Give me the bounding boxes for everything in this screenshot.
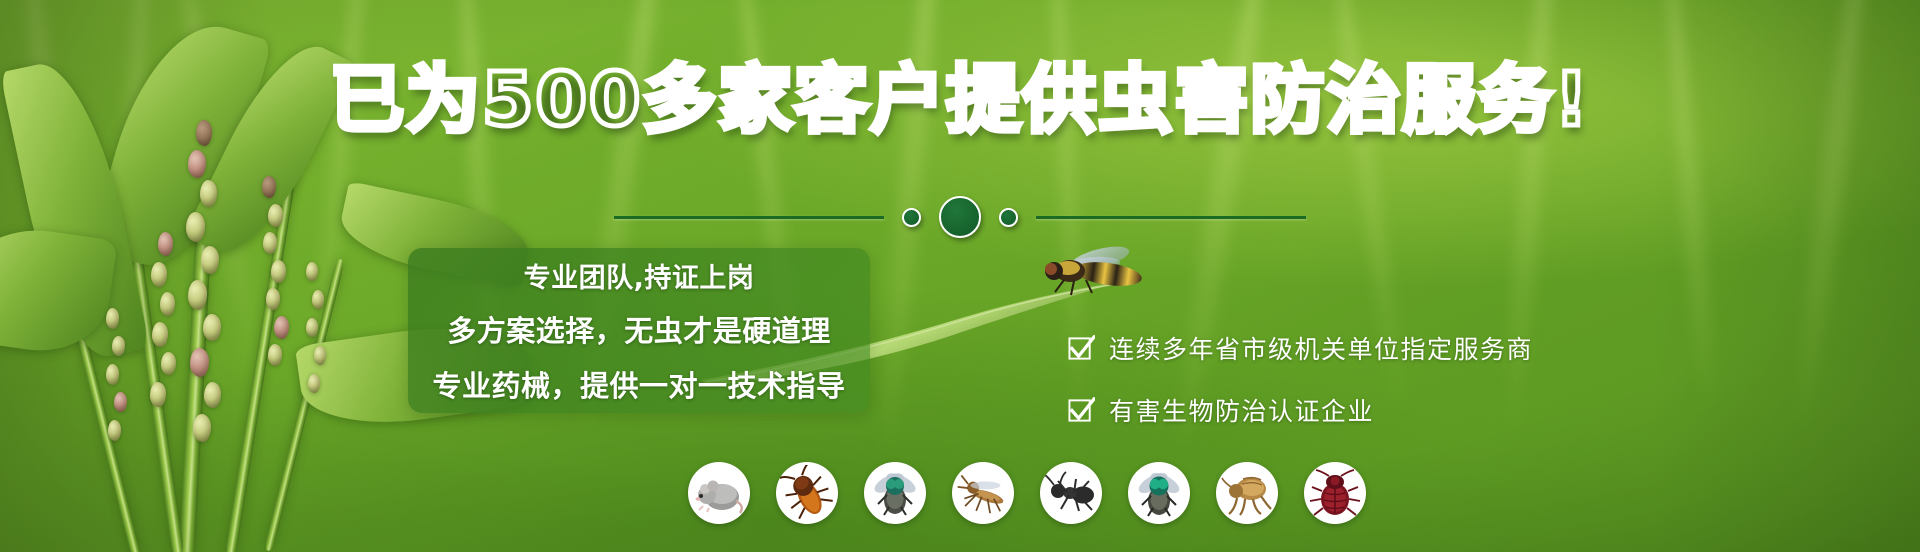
plant-bud [201,246,219,274]
hoverfly-icon [1042,244,1162,304]
plant-bud [314,346,326,365]
divider [614,196,1306,238]
plant-bud [188,150,206,178]
plant-bud [188,280,207,310]
plant-bud [106,364,119,385]
list-item: 有害生物防治认证企业 [1068,392,1533,428]
plant-bud [114,392,127,412]
plant-bud [193,414,211,442]
divider-dot-small-left [902,208,921,227]
plant-bud [306,262,318,281]
plant-bud [312,290,324,309]
housefly-icon [867,465,923,521]
plant-bud [190,348,209,377]
plant-bud [186,212,205,242]
ant-icon [1043,465,1099,521]
credential-label: 有害生物防治认证企业 [1109,392,1374,428]
plant-bud [203,314,221,341]
pest-badge [688,462,750,524]
plant-bud [204,382,221,408]
plant-bud [151,262,167,287]
plant-bud [263,232,277,254]
cockroach-icon [779,465,835,521]
promo-banner: 已为500多家客户提供虫害防治服务! 已为500多家客户提供虫害防治服务! 专业… [0,0,1920,552]
pest-badge [1128,462,1190,524]
greenbottle-fly-icon [1131,465,1187,521]
plant-bud [200,180,217,207]
selling-point-line-2: 多方案选择，无虫才是硬道理 [447,308,831,350]
divider-line-left [614,216,884,219]
rodent-icon [691,465,747,521]
pest-badge [1304,462,1366,524]
flea-icon [1219,465,1275,521]
headline-container: 已为500多家客户提供虫害防治服务! 已为500多家客户提供虫害防治服务! [0,62,1920,140]
plant-bud [308,374,320,393]
pest-icon-row [688,462,1366,524]
divider-dot-large [939,196,981,238]
selling-point-line-1: 专业团队,持证上岗 [524,256,755,295]
plant-bud [160,292,175,316]
plant-bud [158,232,173,256]
selling-point-line-3: 专业药械，提供一对一技术指导 [432,363,845,405]
pest-badge [952,462,1014,524]
plant-bud [112,336,125,356]
plant-bud [106,308,119,329]
plant-bud [268,344,282,366]
plant-bud [274,316,289,339]
credential-label: 连续多年省市级机关单位指定服务商 [1109,330,1533,366]
bedbug-icon [1307,465,1363,521]
plant-bud [150,382,166,407]
pest-badge [864,462,926,524]
plant-bud [271,260,286,283]
plant-bud [161,352,176,375]
plant-bud [152,322,168,347]
checkmark-icon [1068,397,1095,424]
divider-dot-small-right [999,208,1018,227]
plant-bud [108,420,121,441]
plant-bud [266,288,280,310]
page-title: 已为500多家客户提供虫害防治服务! [330,62,1590,140]
mosquito-icon [955,465,1011,521]
pest-badge [1216,462,1278,524]
list-item: 连续多年省市级机关单位指定服务商 [1068,330,1533,366]
plant-bud [262,176,276,198]
checkmark-icon [1068,335,1095,362]
plant-bud [306,318,318,337]
divider-line-right [1036,216,1306,219]
credentials-list: 连续多年省市级机关单位指定服务商 有害生物防治认证企业 [1068,330,1533,428]
plant-bud [268,204,283,227]
pest-badge [776,462,838,524]
selling-points-text: 专业团队,持证上岗 多方案选择，无虫才是硬道理 专业药械，提供一对一技术指导 [408,248,870,413]
pest-badge [1040,462,1102,524]
